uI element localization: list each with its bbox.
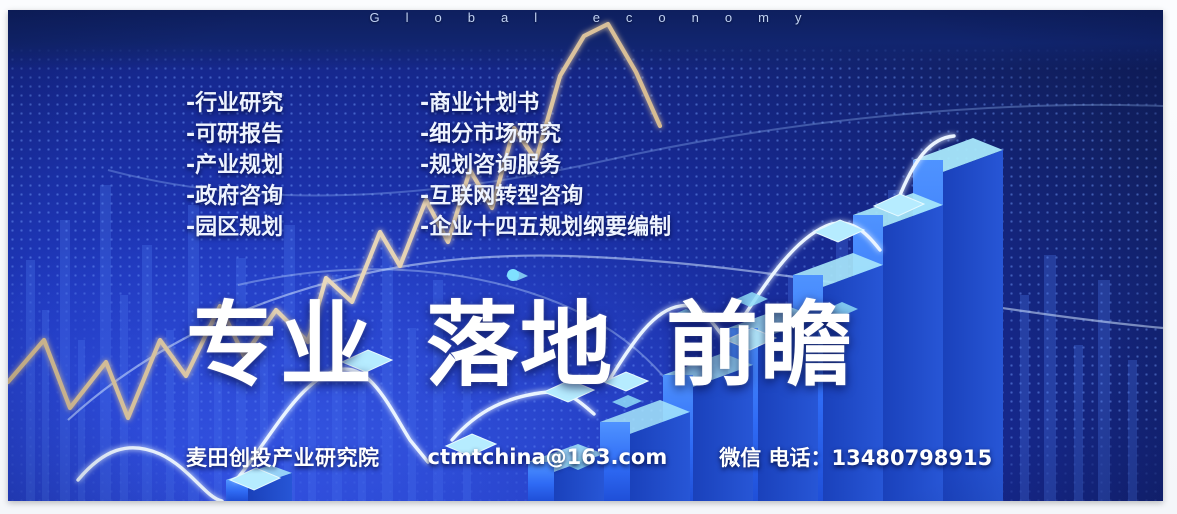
vignette bbox=[8, 10, 1163, 501]
list-item: -企业十四五规划纲要编制 bbox=[420, 212, 671, 243]
headline: 专业 落地 前瞻 bbox=[186, 300, 854, 392]
headline-word-1: 专业 bbox=[186, 300, 374, 392]
company-name: 麦田创投产业研究院 bbox=[186, 442, 380, 472]
list-item: -商业计划书 bbox=[420, 88, 671, 119]
list-item: -政府咨询 bbox=[186, 181, 283, 212]
list-item: -产业规划 bbox=[186, 150, 283, 181]
headline-word-3: 前瞻 bbox=[666, 300, 854, 392]
list-item: -园区规划 bbox=[186, 212, 283, 243]
footer-contact-row: 麦田创投产业研究院 ctmtchina@163.com 微信 电话：134807… bbox=[186, 442, 992, 472]
banner-frame: Global economy -行业研究 -可研报告 -产业规划 -政府咨询 -… bbox=[0, 0, 1177, 514]
list-item: -规划咨询服务 bbox=[420, 150, 671, 181]
list-item: -细分市场研究 bbox=[420, 119, 671, 150]
service-list-left: -行业研究 -可研报告 -产业规划 -政府咨询 -园区规划 bbox=[186, 88, 283, 243]
list-item: -互联网转型咨询 bbox=[420, 181, 671, 212]
service-list-right: -商业计划书 -细分市场研究 -规划咨询服务 -互联网转型咨询 -企业十四五规划… bbox=[420, 88, 671, 243]
wechat-phone: 微信 电话：13480798915 bbox=[719, 442, 992, 472]
list-item: -行业研究 bbox=[186, 88, 283, 119]
banner-panel bbox=[8, 10, 1163, 501]
list-item: -可研报告 bbox=[186, 119, 283, 150]
email-address[interactable]: ctmtchina@163.com bbox=[428, 445, 668, 469]
headline-word-2: 落地 bbox=[426, 300, 614, 392]
top-caption: Global economy bbox=[8, 10, 1163, 25]
